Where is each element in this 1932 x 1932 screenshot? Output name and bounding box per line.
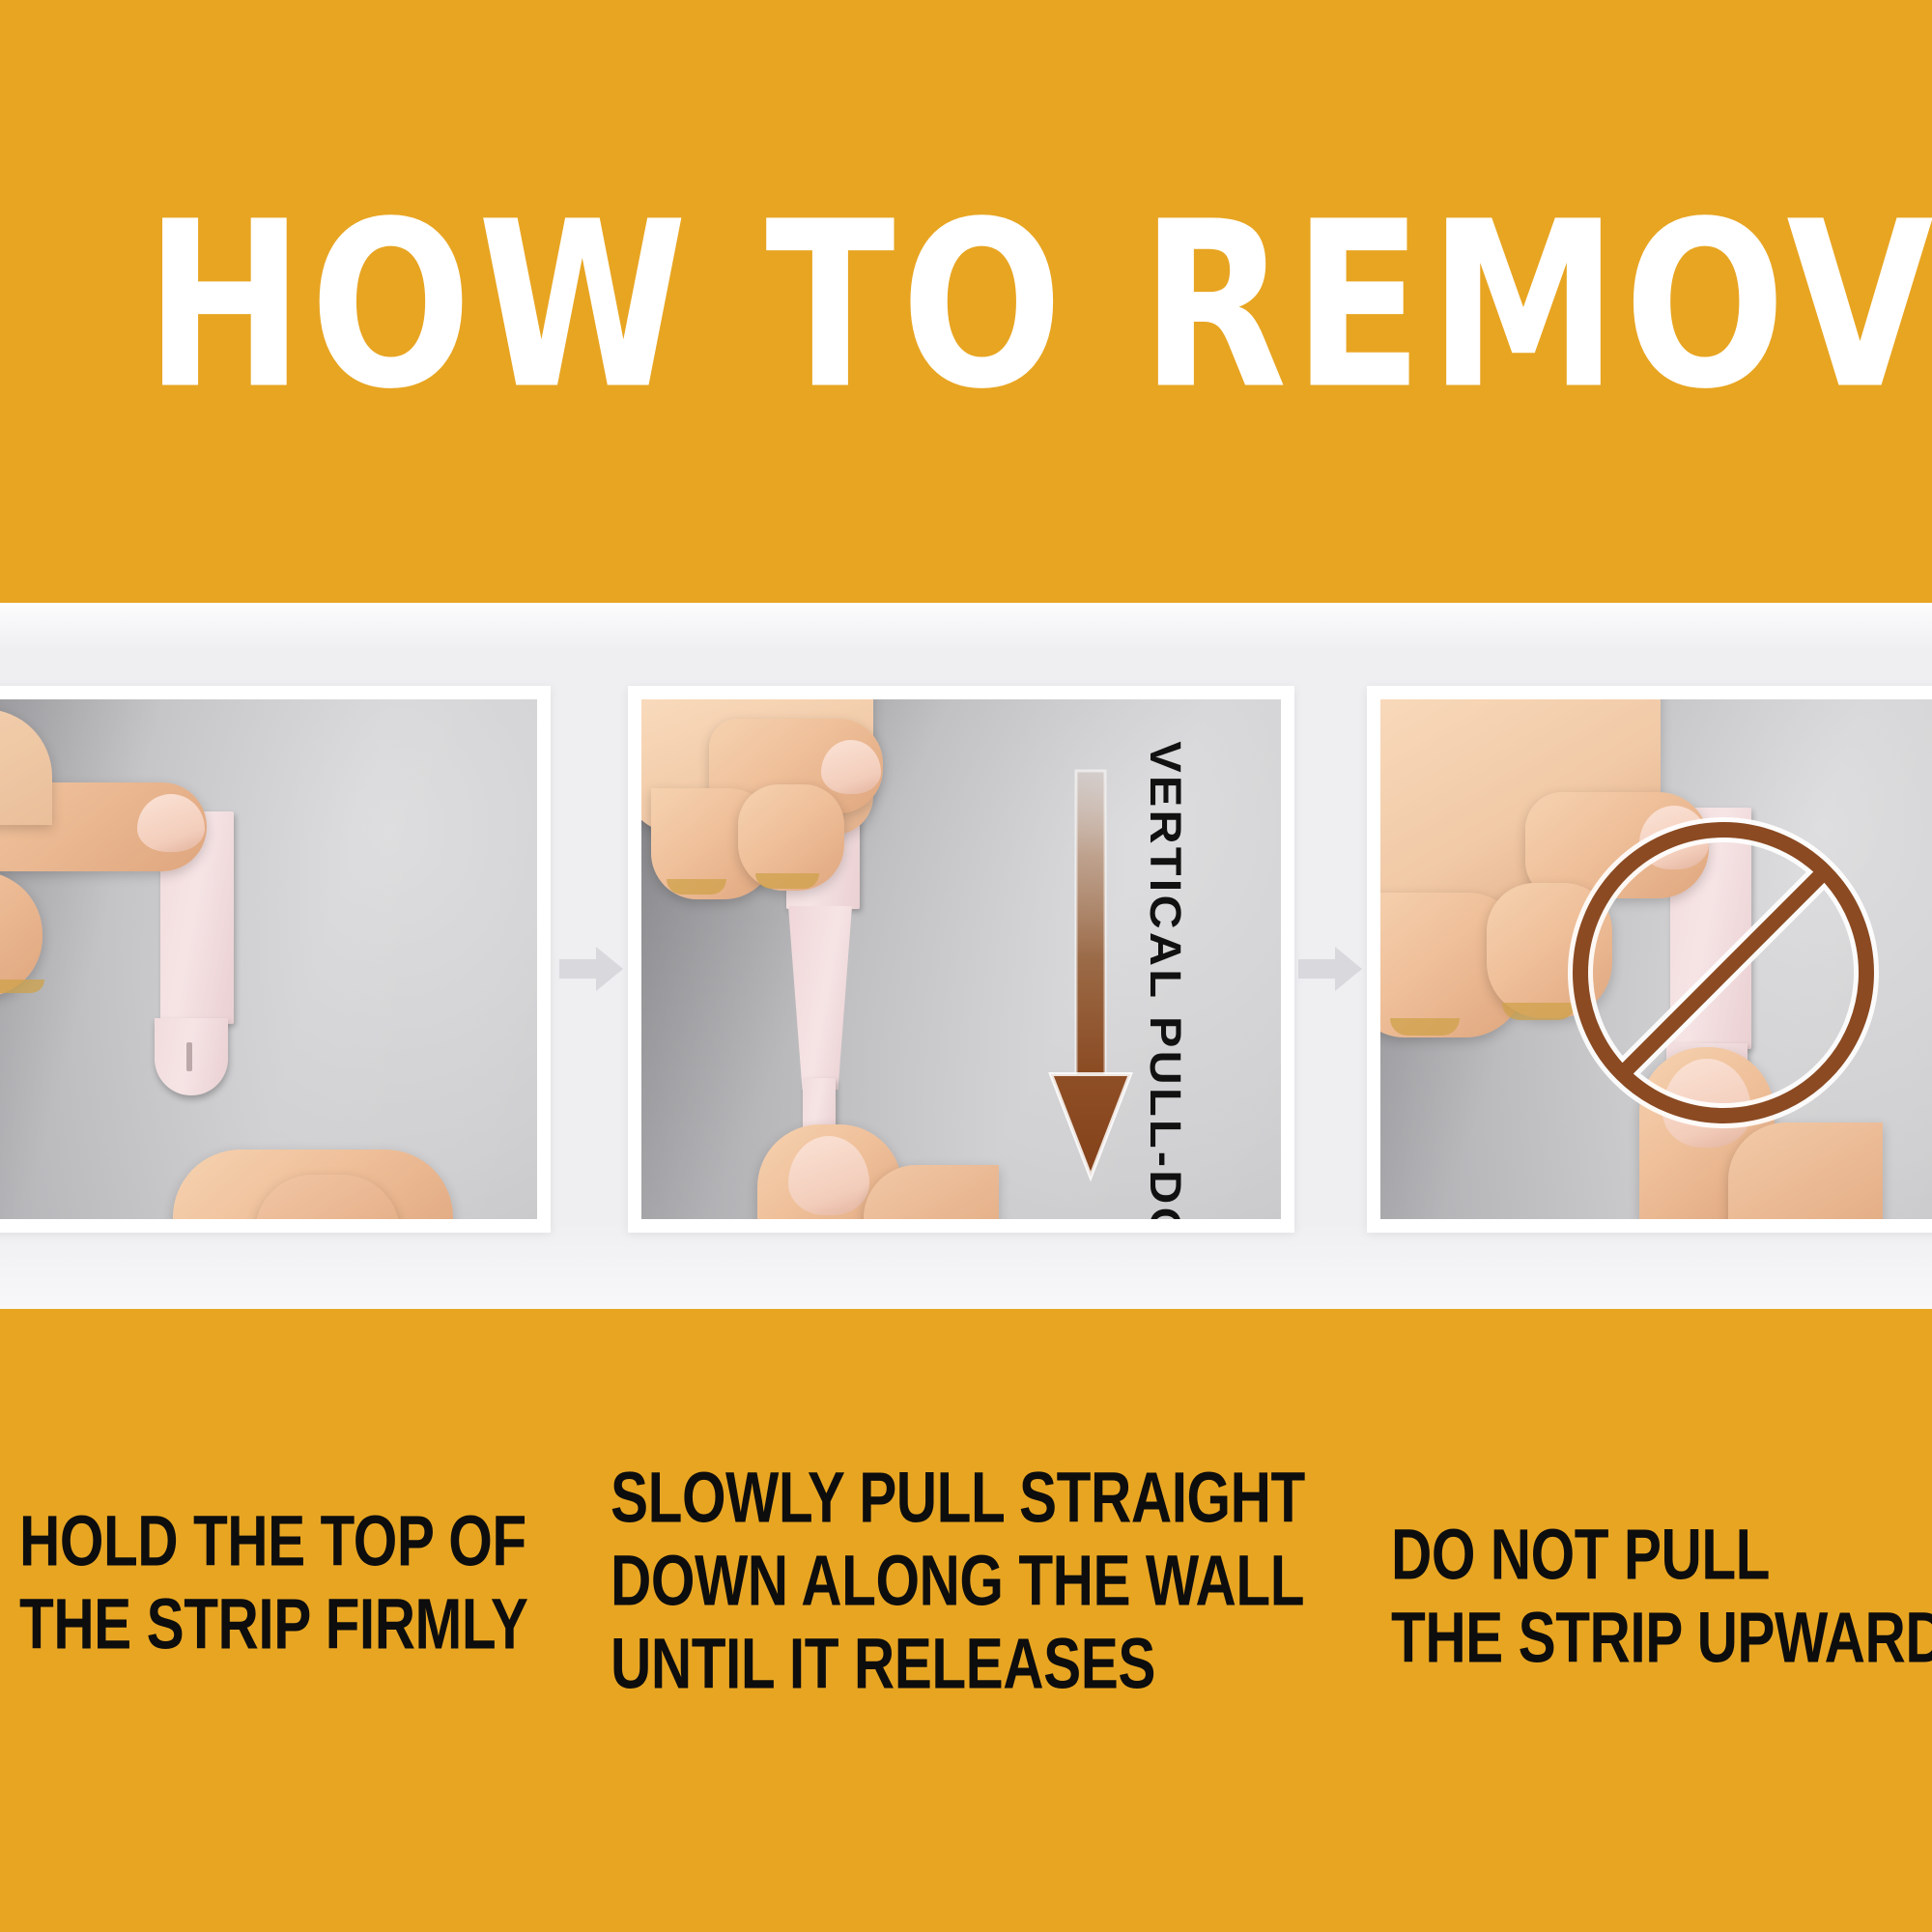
step-panel-2[interactable]: VERTICAL PULL-DOWN (628, 686, 1294, 1233)
page-title: HOW TO REMOVE (145, 191, 1879, 420)
caption-line: SLOWLY PULL STRAIGHT (611, 1457, 1258, 1540)
upper-hand-nail-edge-1 (1390, 1018, 1460, 1036)
upper-hand-nail-edge (0, 980, 44, 993)
upper-hand-nail-edge-1 (667, 879, 726, 895)
caption-line: UNTIL IT RELEASES (611, 1623, 1258, 1706)
how-to-remove-infographic: HOW TO REMOVE (0, 0, 1932, 1932)
step-2-caption: SLOWLY PULL STRAIGHT DOWN ALONG THE WALL… (611, 1457, 1258, 1707)
step-2-photo: VERTICAL PULL-DOWN (641, 699, 1281, 1219)
header-band: HOW TO REMOVE (0, 0, 1932, 603)
connector-arrow-1-icon (555, 942, 627, 996)
pull-down-arrow-icon (1047, 767, 1134, 1182)
caption-band: HOLD THE TOP OF THE STRIP FIRMLY SLOWLY … (0, 1309, 1932, 1932)
step-3-photo (1380, 699, 1932, 1219)
lower-hand-knuckle (1728, 1122, 1883, 1219)
caption-line: DOWN ALONG THE WALL (611, 1540, 1258, 1623)
vertical-pull-down-label: VERTICAL PULL-DOWN (1140, 741, 1190, 1219)
caption-line: THE STRIP FIRMLY (19, 1583, 558, 1666)
step-1-photo (0, 699, 537, 1219)
step-3-caption: DO NOT PULL THE STRIP UPWARD (1391, 1514, 1932, 1680)
step-panel-3[interactable] (1367, 686, 1932, 1233)
caption-line: HOLD THE TOP OF (19, 1500, 558, 1583)
connector-arrow-2-icon (1294, 942, 1366, 996)
caption-line: DO NOT PULL (1391, 1514, 1932, 1597)
step-panel-1[interactable] (0, 686, 551, 1233)
strip-notch (186, 1042, 192, 1071)
prohibition-sign-icon (1564, 813, 1883, 1132)
upper-hand-nail-edge-2 (755, 873, 819, 889)
step-1-caption: HOLD THE TOP OF THE STRIP FIRMLY (19, 1500, 558, 1666)
caption-line: THE STRIP UPWARD (1391, 1597, 1932, 1680)
wall-shadow (0, 699, 537, 1219)
